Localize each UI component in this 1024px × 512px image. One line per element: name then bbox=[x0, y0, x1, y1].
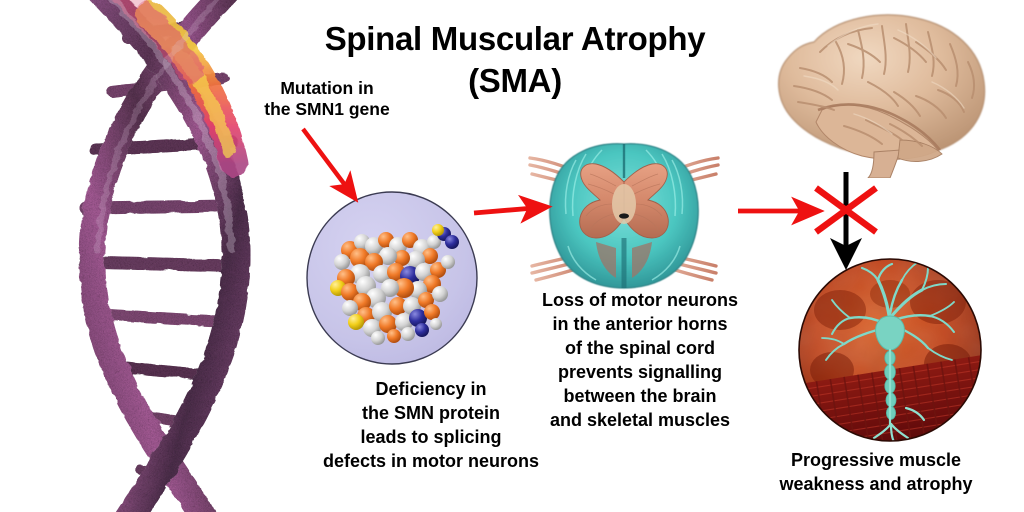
motor-neuron-caption: Progressive muscle weakness and atrophy bbox=[744, 449, 1008, 497]
spinal-cord-caption: Loss of motor neurons in the anterior ho… bbox=[518, 289, 762, 433]
mutation-label: Mutation in the SMN1 gene bbox=[232, 78, 422, 119]
arrow-mutation-to-protein bbox=[303, 129, 348, 189]
infographic-canvas: Spinal Muscular Atrophy (SMA) Mutation i… bbox=[0, 0, 1024, 512]
arrow-protein-to-cord bbox=[474, 208, 534, 213]
